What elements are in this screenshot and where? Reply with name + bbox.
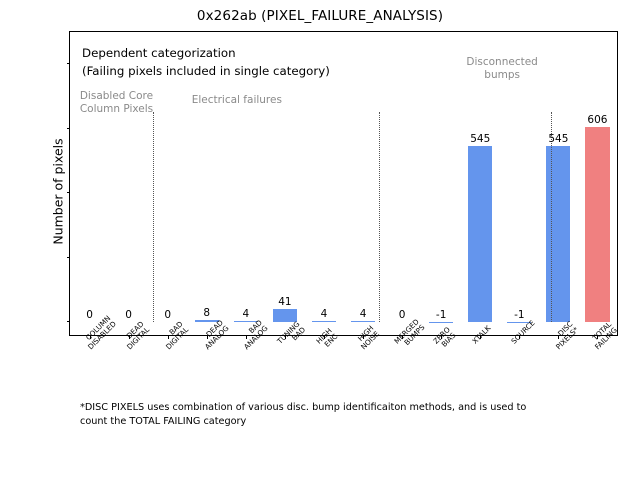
main-annotation-line2: (Failing pixels included in single categ…	[82, 62, 330, 80]
main-annotation-line1: Dependent categorization	[82, 44, 330, 62]
bar[interactable]	[546, 146, 570, 322]
group-annotation: Disconnectedbumps	[466, 56, 537, 82]
bar[interactable]	[585, 127, 609, 322]
bar[interactable]	[312, 321, 336, 322]
y-axis-label: Number of pixels	[51, 32, 66, 352]
bar[interactable]	[468, 146, 492, 322]
group-annotation-line: Disabled Core	[80, 90, 153, 103]
bar-value-label: 41	[278, 296, 291, 308]
chart-footnote: *DISC PIXELS uses combination of various…	[80, 401, 550, 429]
plot-inner: Disabled CoreColumn PixelsElectrical fai…	[70, 32, 617, 335]
group-annotation: Disabled CoreColumn Pixels	[80, 90, 153, 116]
group-divider-line	[379, 112, 380, 322]
bar-value-label: 0	[164, 309, 171, 321]
chart-figure: 0x262ab (PIXEL_FAILURE_ANALYSIS) Number …	[0, 0, 640, 480]
group-annotation-line: bumps	[466, 69, 537, 82]
bar-value-label: 606	[587, 114, 607, 126]
bar[interactable]	[351, 321, 375, 322]
bar-value-label: 0	[86, 309, 93, 321]
bar-value-label: 545	[470, 133, 490, 145]
bar-value-label: 4	[360, 308, 367, 320]
bar-value-label: 8	[203, 307, 210, 319]
main-annotation: Dependent categorization (Failing pixels…	[82, 44, 330, 81]
group-annotation: Electrical failures	[192, 94, 282, 107]
bar-value-label: -1	[514, 309, 524, 321]
group-divider-line	[153, 112, 154, 322]
bar-value-label: -1	[436, 309, 446, 321]
bar-value-label: 545	[548, 133, 568, 145]
group-annotation-line: Column Pixels	[80, 103, 153, 116]
bar-value-label: 0	[399, 309, 406, 321]
bar-value-label: 0	[125, 309, 132, 321]
plot-area: Number of pixels 0200400600800 Disabled …	[69, 31, 618, 336]
group-annotation-line: Electrical failures	[192, 94, 282, 107]
group-annotation-line: Disconnected	[466, 56, 537, 69]
chart-title: 0x262ab (PIXEL_FAILURE_ANALYSIS)	[0, 8, 640, 24]
bar-value-label: 4	[321, 308, 328, 320]
bar-value-label: 4	[242, 308, 249, 320]
